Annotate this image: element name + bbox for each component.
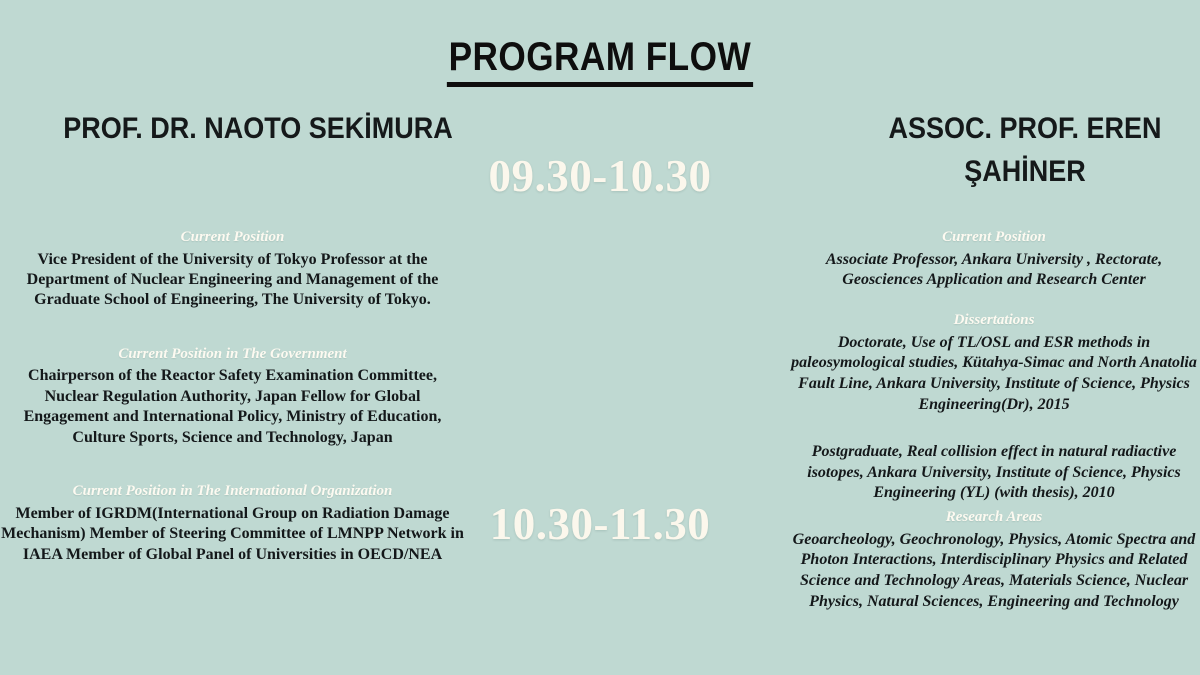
page-title: PROGRAM FLOW xyxy=(447,36,753,87)
section-heading: Current Position xyxy=(788,228,1200,248)
program-flow-slide: PROGRAM FLOW PROF. DR. NAOTO SEKİMURA AS… xyxy=(0,0,1200,675)
section-body: Geoarcheology, Geochronology, Physics, A… xyxy=(788,530,1200,613)
speaker-right-bio-column: Current Position Associate Professor, An… xyxy=(788,228,1200,613)
section-heading: Dissertations xyxy=(788,311,1200,331)
section-heading: Current Position xyxy=(0,228,465,248)
bio-block: Dissertations Doctorate, Use of TL/OSL a… xyxy=(788,311,1200,416)
session-2-time: 10.30-11.30 xyxy=(420,498,780,550)
bio-block: Current Position in The Government Chair… xyxy=(0,345,465,448)
section-body: Associate Professor, Ankara University ,… xyxy=(788,250,1200,292)
section-heading: Research Areas xyxy=(788,508,1200,528)
session-1-time: 09.30-10.30 xyxy=(420,150,780,202)
bio-block: Current Position Associate Professor, An… xyxy=(788,228,1200,291)
section-heading: Current Position in The International Or… xyxy=(0,482,465,502)
speaker-left-bio-column: Current Position Vice President of the U… xyxy=(0,228,465,565)
speaker-left-name: PROF. DR. NAOTO SEKİMURA xyxy=(51,108,465,151)
slide-title-wrapper: PROGRAM FLOW xyxy=(0,36,1200,87)
bio-block: Current Position Vice President of the U… xyxy=(0,228,465,311)
section-body: Member of IGRDM(International Group on R… xyxy=(0,504,465,565)
bio-block: Research Areas Geoarcheology, Geochronol… xyxy=(788,508,1200,613)
bio-block: Current Position in The International Or… xyxy=(0,482,465,565)
speaker-right-name: ASSOC. PROF. EREN ŞAHİNER xyxy=(827,108,1200,193)
section-body: Chairperson of the Reactor Safety Examin… xyxy=(0,366,465,448)
section-body: Vice President of the University of Toky… xyxy=(0,250,465,311)
bio-block: Postgraduate, Real collision effect in n… xyxy=(788,442,1200,504)
section-body: Postgraduate, Real collision effect in n… xyxy=(788,442,1200,504)
section-body: Doctorate, Use of TL/OSL and ESR methods… xyxy=(788,333,1200,416)
section-heading: Current Position in The Government xyxy=(0,345,465,365)
